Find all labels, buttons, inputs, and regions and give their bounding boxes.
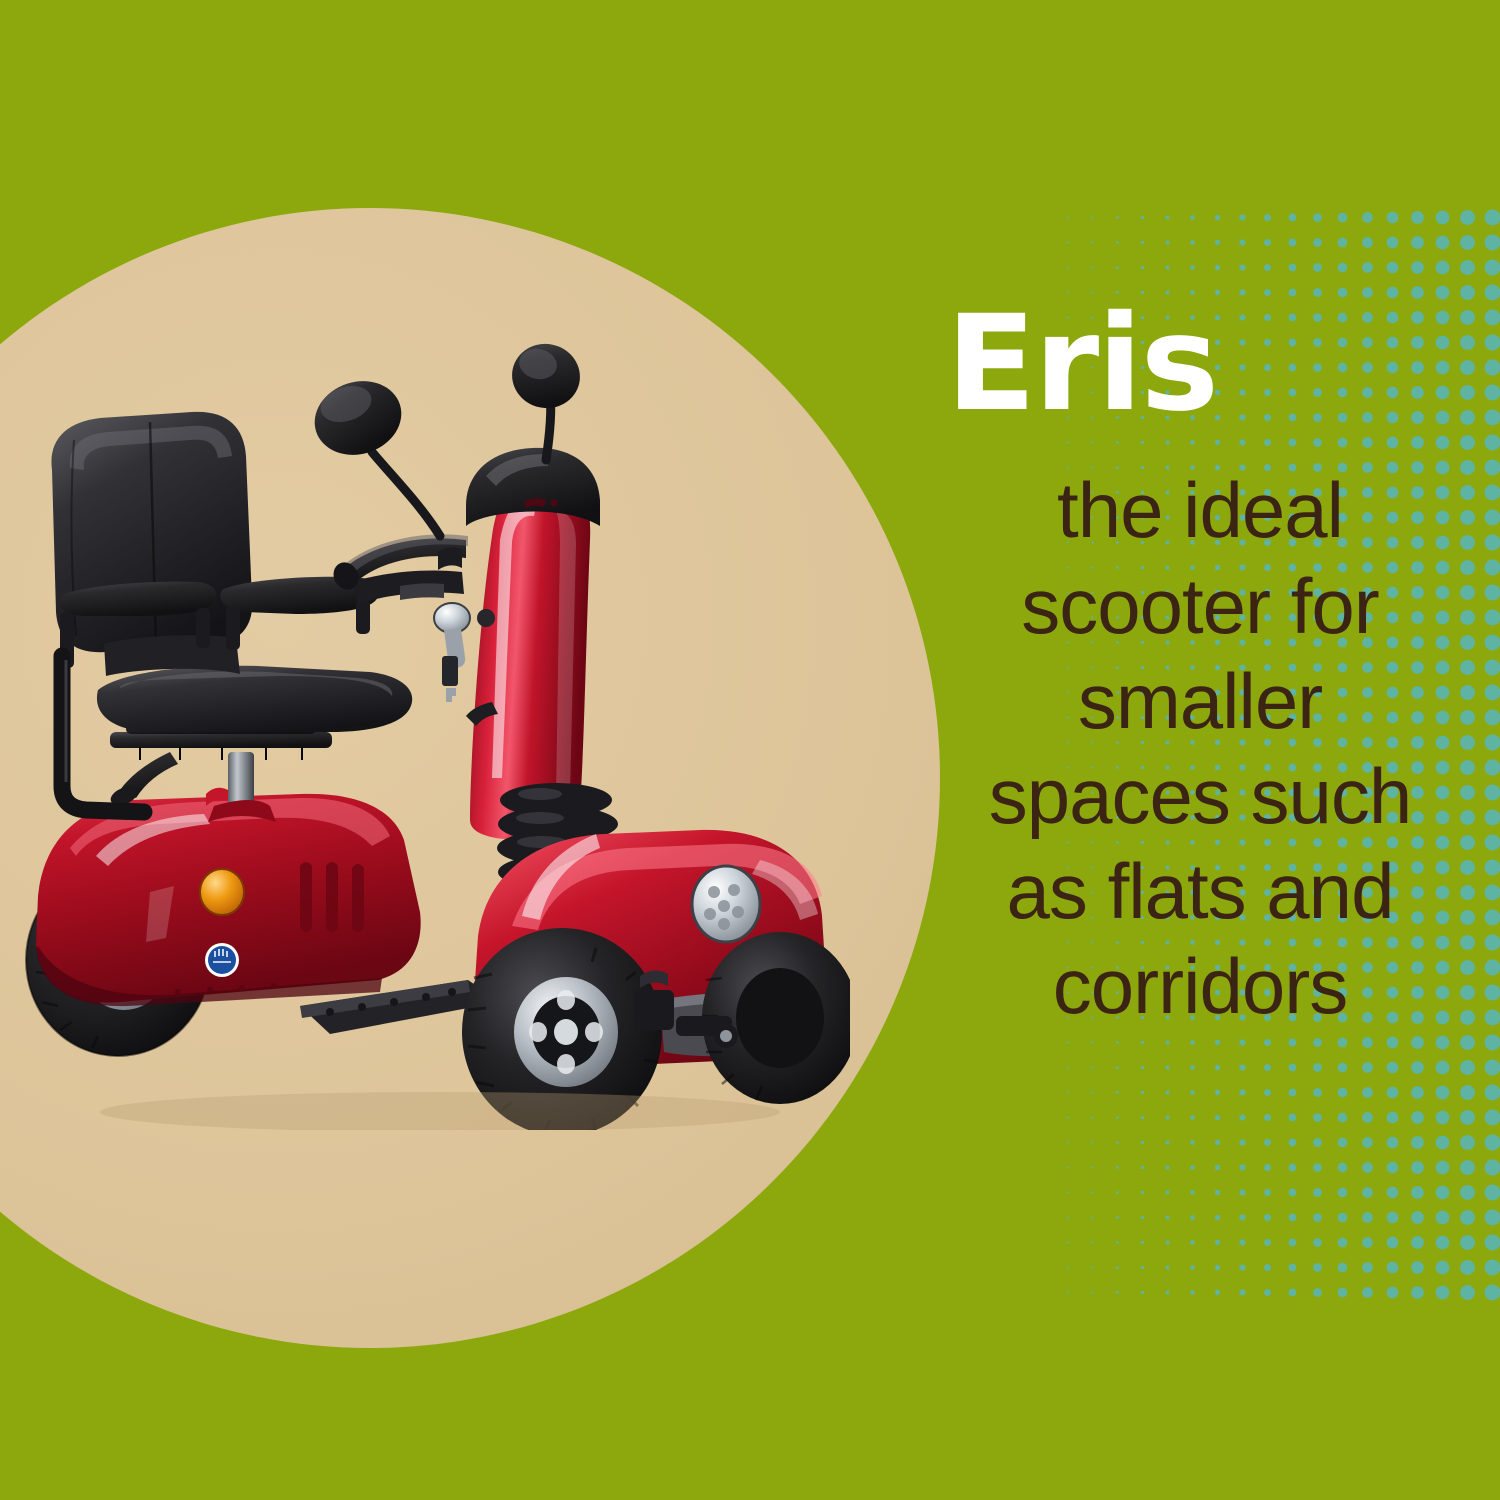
subhead-line: as flats and: [930, 844, 1470, 939]
subhead-line: smaller: [930, 654, 1470, 749]
subhead-line: spaces such: [930, 749, 1470, 844]
page-title: Eris: [930, 300, 1470, 429]
subheadline: the ideal scooter for smaller spaces suc…: [930, 463, 1470, 1034]
subhead-line: corridors: [930, 939, 1470, 1034]
text-column: Eris the ideal scooter for smaller space…: [930, 300, 1470, 1034]
subhead-line: scooter for: [930, 559, 1470, 654]
poster-canvas: Eris the ideal scooter for smaller space…: [0, 0, 1500, 1500]
scooter-product-image: [0, 300, 850, 1130]
subhead-line: the ideal: [930, 463, 1470, 558]
